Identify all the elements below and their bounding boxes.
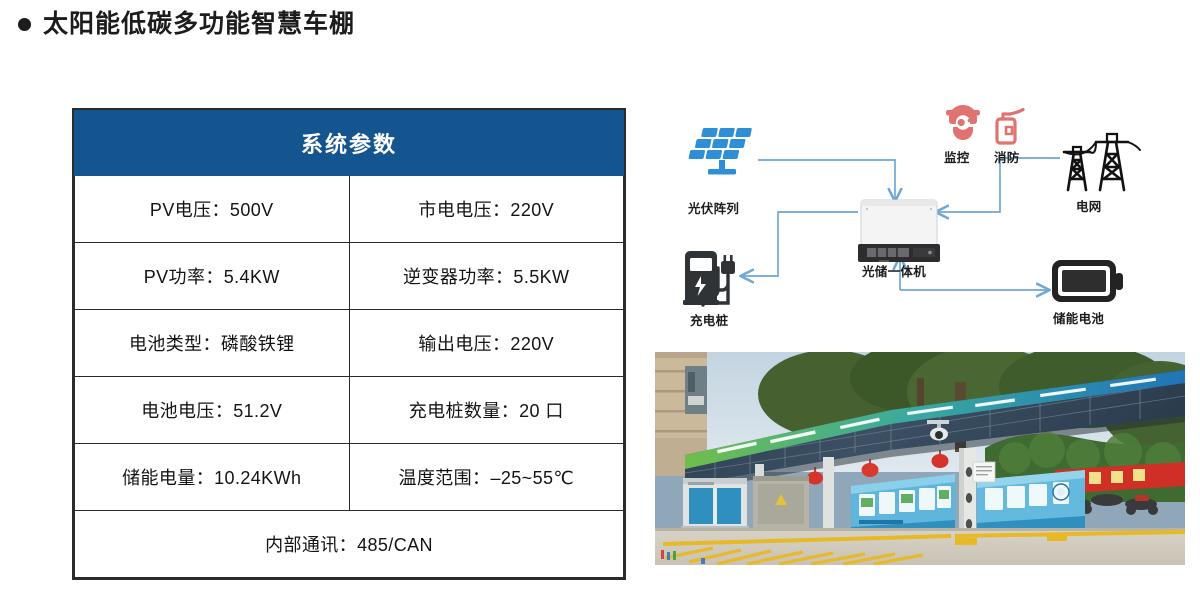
table-header-row: 系统参数	[75, 111, 624, 176]
cell-output-voltage: 输出电压：220V	[349, 310, 624, 377]
system-flow-diagram: 光伏阵列 监控 消防 电网 光储一体机 充电桩 储能电池	[655, 100, 1185, 345]
carport-photo	[655, 352, 1185, 565]
cell-inverter-power: 逆变器功率：5.5KW	[349, 243, 624, 310]
cell-battery-type: 电池类型：磷酸铁锂	[75, 310, 350, 377]
label-fire: 消防	[994, 147, 1020, 166]
flow-inverter-to-charger	[742, 212, 858, 276]
solar-panel-icon	[688, 128, 752, 175]
label-grid: 电网	[1076, 196, 1102, 215]
page-title-label: 太阳能低碳多功能智慧车棚	[43, 12, 355, 37]
table-row: PV电压：500V 市电电压：220V	[75, 176, 624, 243]
label-monitor: 监控	[944, 147, 970, 166]
power-pylon-icon	[1064, 134, 1140, 190]
charging-pile-icon	[683, 251, 735, 305]
label-charger: 充电桩	[690, 310, 728, 329]
cell-pv-voltage: PV电压：500V	[75, 176, 350, 243]
cell-charger-count: 充电桩数量：20 口	[349, 377, 624, 444]
table-row: 储能电量：10.24KWh 温度范围：–25~55℃	[75, 444, 624, 511]
table-row: PV功率：5.4KW 逆变器功率：5.5KW	[75, 243, 624, 310]
cell-internal-comm: 内部通讯：485/CAN	[75, 511, 624, 578]
label-battery: 储能电池	[1053, 308, 1104, 327]
hybrid-inverter-icon	[858, 200, 940, 262]
flow-grid-to-inverter	[937, 158, 1060, 212]
cell-mains-voltage: 市电电压：220V	[349, 176, 624, 243]
cell-pv-power: PV功率：5.4KW	[75, 243, 350, 310]
page-title: 太阳能低碳多功能智慧车棚	[18, 12, 355, 37]
table-row: 电池电压：51.2V 充电桩数量：20 口	[75, 377, 624, 444]
cell-storage-capacity: 储能电量：10.24KWh	[75, 444, 350, 511]
battery-icon	[1052, 260, 1123, 302]
table-row: 电池类型：磷酸铁锂 输出电压：220V	[75, 310, 624, 377]
fire-extinguisher-icon	[997, 110, 1023, 144]
flow-pv-to-inverter	[758, 160, 895, 200]
label-inverter: 光储一体机	[862, 261, 926, 280]
cell-temperature-range: 温度范围：–25~55℃	[349, 444, 624, 511]
bullet-icon	[18, 18, 31, 31]
cell-battery-voltage: 电池电压：51.2V	[75, 377, 350, 444]
table-row: 内部通讯：485/CAN	[75, 511, 624, 578]
label-pv: 光伏阵列	[688, 198, 739, 217]
table-header-label: 系统参数	[75, 111, 624, 176]
cctv-camera-icon	[946, 105, 980, 140]
system-parameters-table: 系统参数 PV电压：500V 市电电压：220V PV功率：5.4KW 逆变器功…	[72, 108, 626, 580]
